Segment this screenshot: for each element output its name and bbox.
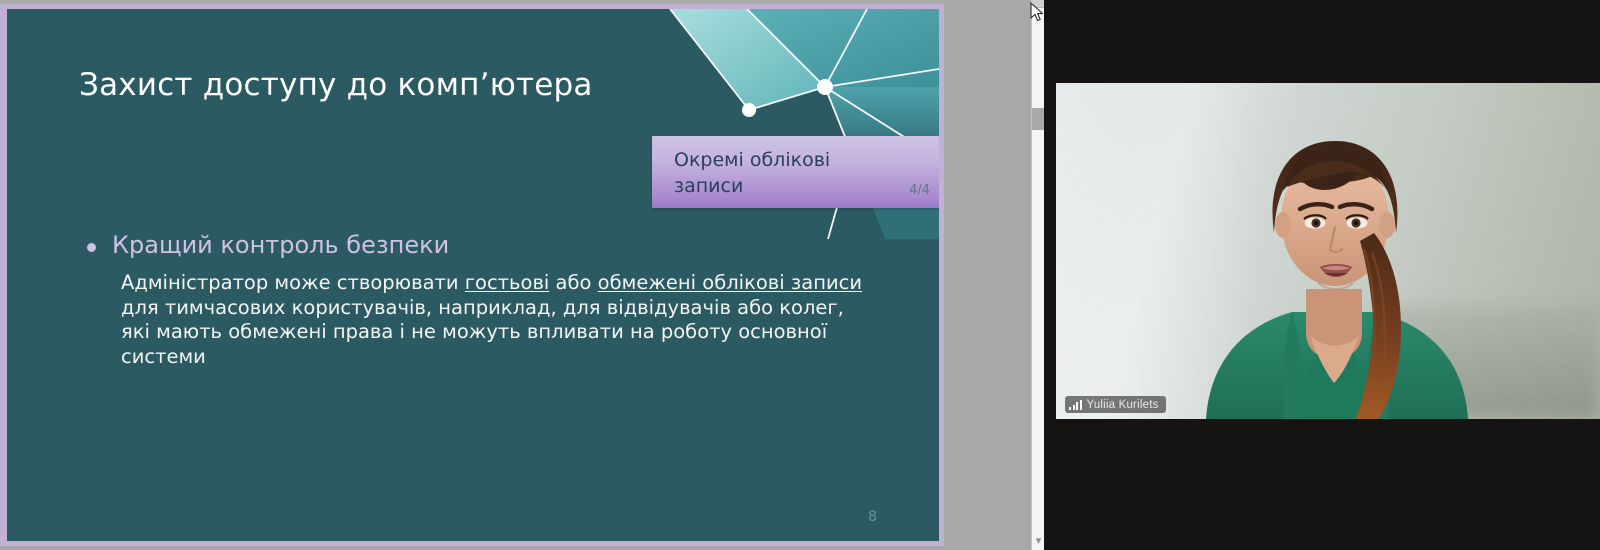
participant-image <box>1056 83 1600 419</box>
bullet-dot-icon <box>87 243 96 252</box>
bullet-heading-row: Кращий контроль безпеки <box>87 231 449 259</box>
participant-name-label: Yuliia Kurilets <box>1087 399 1159 411</box>
presentation-viewer-pane: Захист доступу до комп’ютера Окремі облі… <box>0 0 1044 550</box>
callout-text: Окремі облікові записи <box>674 147 894 199</box>
slide-number: 8 <box>868 509 877 525</box>
callout-counter: 4/4 <box>909 183 930 198</box>
bullet-heading-text: Кращий контроль безпеки <box>112 231 449 259</box>
video-pane: Yuliia Kurilets <box>1044 0 1600 550</box>
slide-title: Захист доступу до комп’ютера <box>79 67 593 103</box>
participant-name-badge: Yuliia Kurilets <box>1065 396 1166 413</box>
slide-body-text: Адміністратор може створювати гостьові а… <box>121 271 873 369</box>
body-text-run: або <box>549 271 597 294</box>
participant-video-tile[interactable]: Yuliia Kurilets <box>1056 83 1600 419</box>
body-text-run: Адміністратор може створювати <box>121 271 465 294</box>
slide-canvas[interactable]: Захист доступу до комп’ютера Окремі облі… <box>7 9 939 541</box>
body-text-run: для тимчасових користувачів, наприклад, … <box>121 296 844 368</box>
body-text-emphasis: обмежені облікові записи <box>598 271 862 294</box>
screen: Захист доступу до комп’ютера Окремі облі… <box>0 0 1600 550</box>
signal-bars-icon <box>1069 400 1082 410</box>
callout-box[interactable]: Окремі облікові записи 4/4 <box>652 136 939 208</box>
slide-frame: Захист доступу до комп’ютера Окремі облі… <box>0 4 944 546</box>
body-text-emphasis: гостьові <box>465 271 550 294</box>
vertical-scrollbar[interactable]: ▾ <box>1031 0 1044 550</box>
